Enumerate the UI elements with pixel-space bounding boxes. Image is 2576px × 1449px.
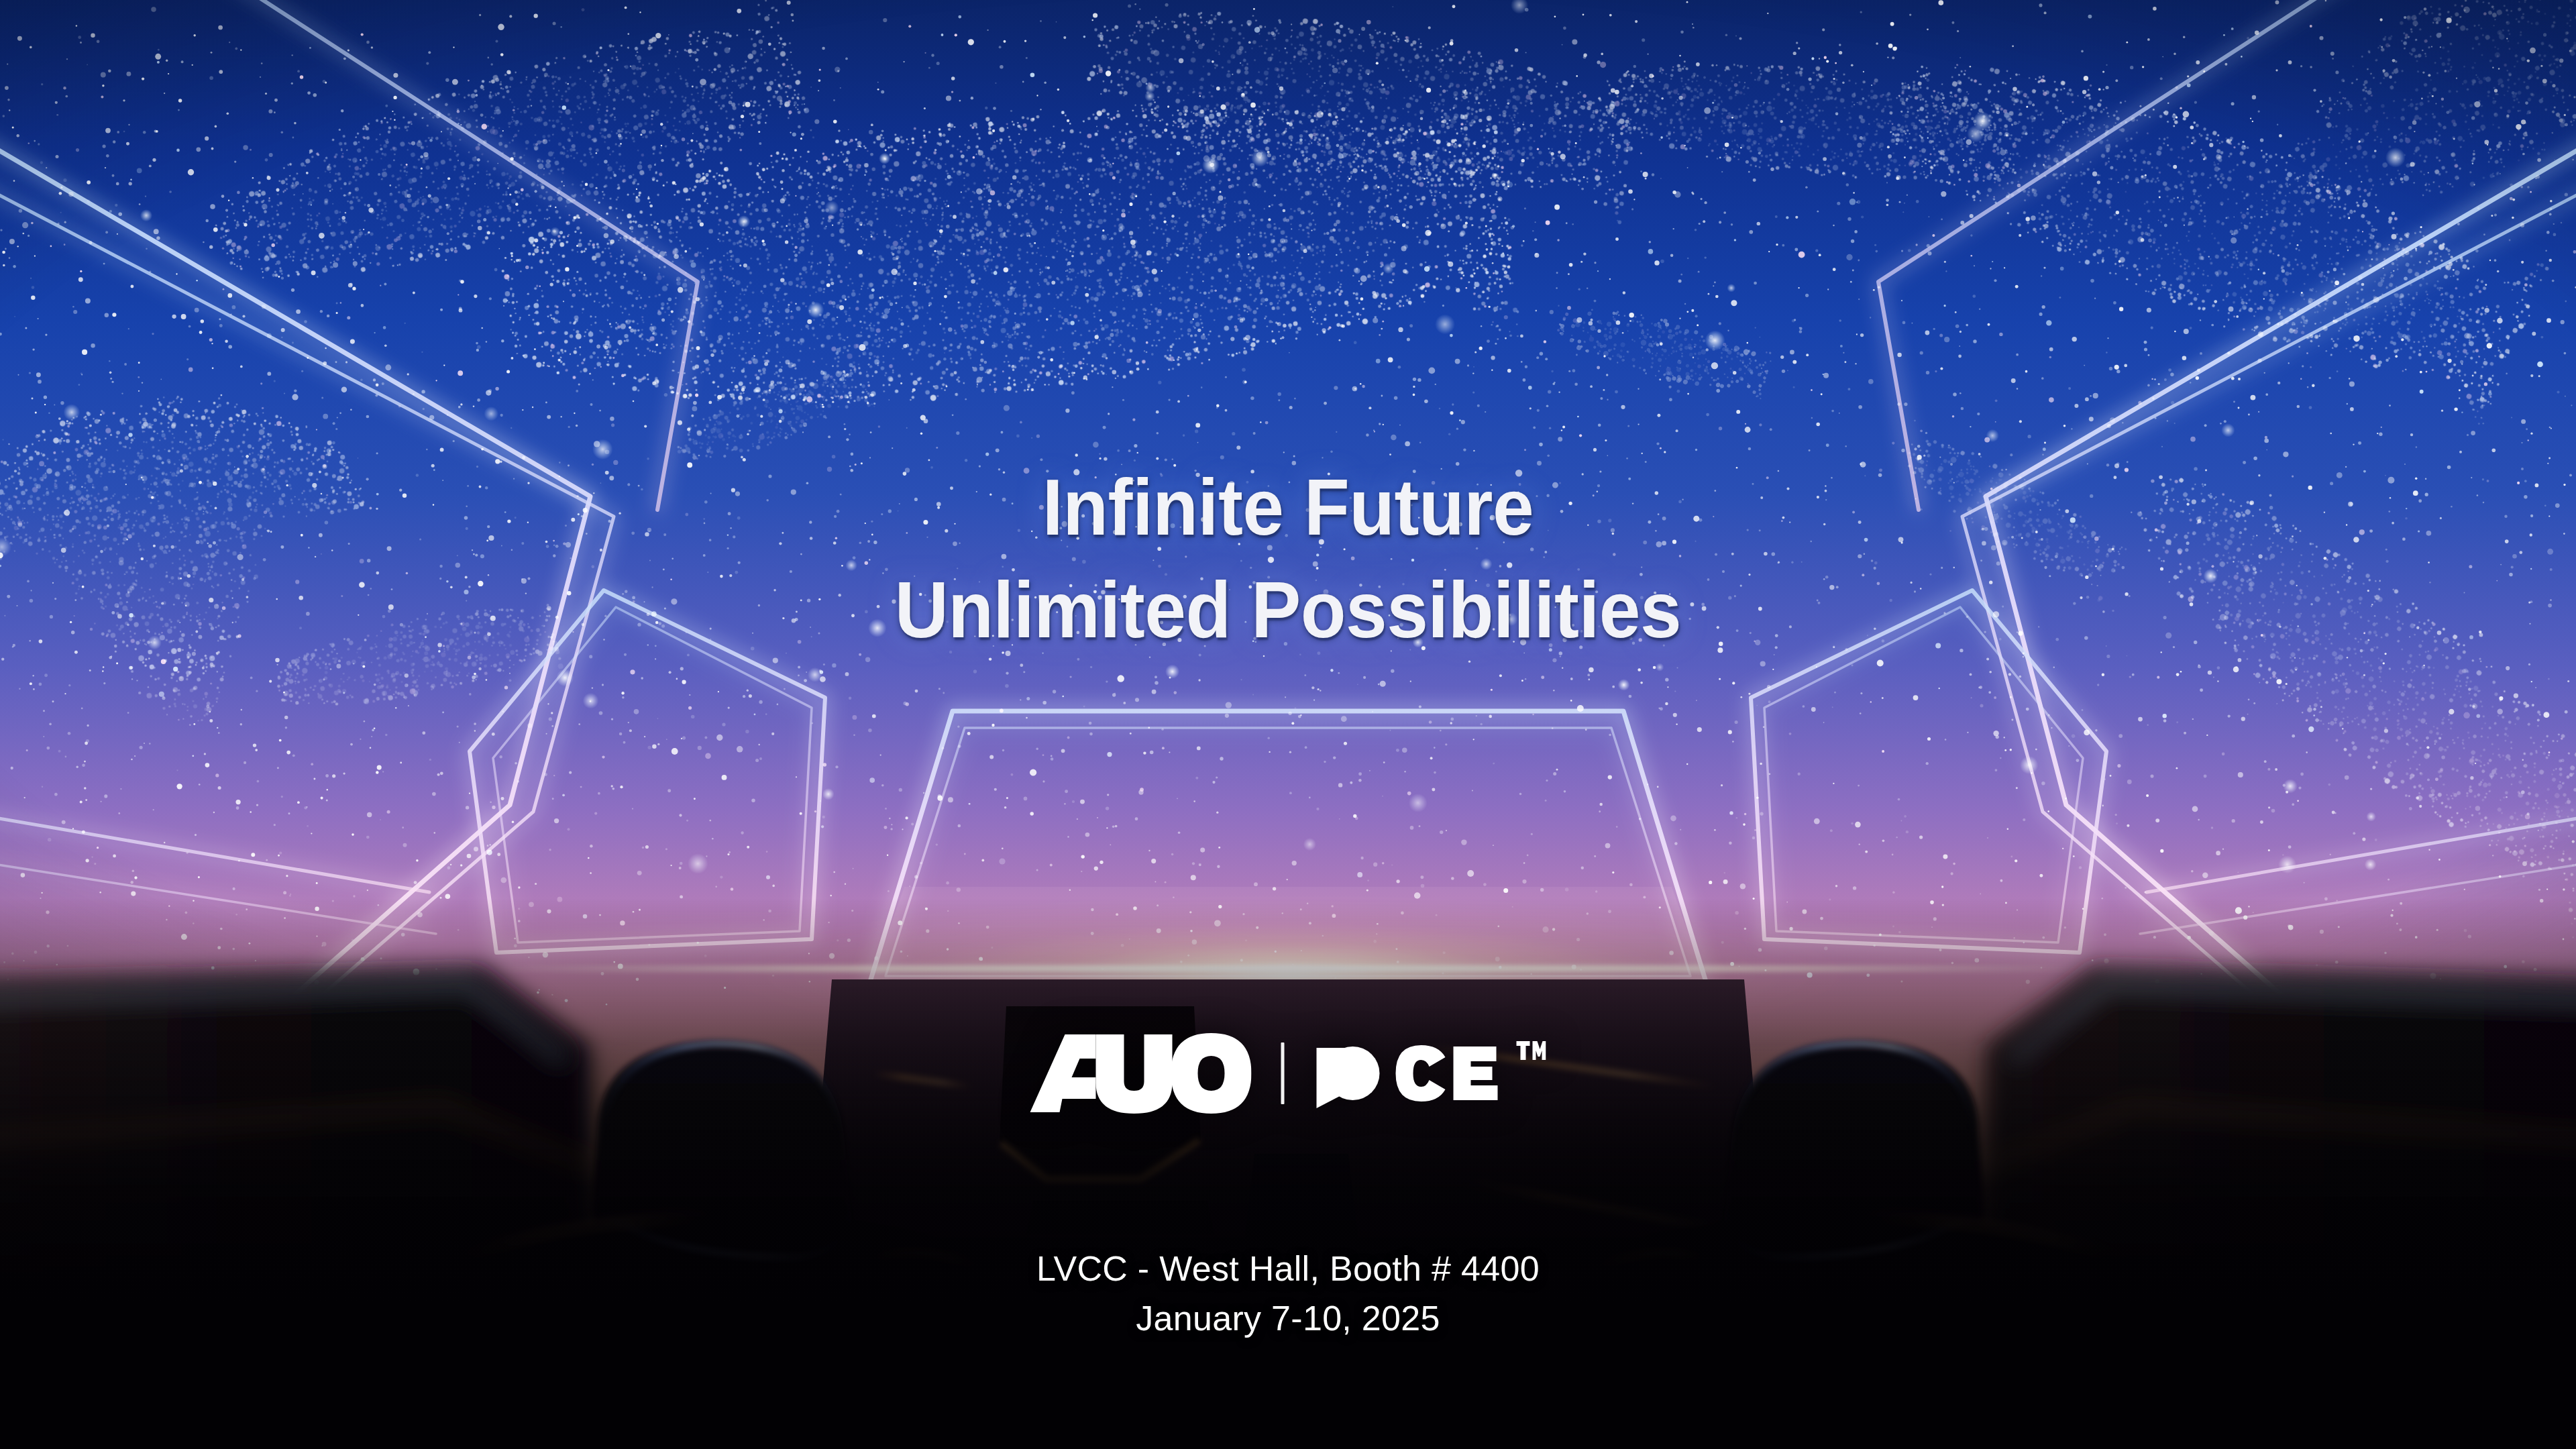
page-title: Infinite Future Unlimited Possibilities <box>77 456 2499 662</box>
event-details: LVCC - West Hall, Booth # 4400 January 7… <box>0 1244 2576 1344</box>
headline-line-2: Unlimited Possibilities <box>77 559 2499 661</box>
date-line: January 7-10, 2025 <box>0 1294 2576 1344</box>
auo-logo[interactable] <box>1030 1033 1252 1114</box>
headline-line-1: Infinite Future <box>77 456 2499 559</box>
key-visual-poster: Infinite Future Unlimited Possibilities <box>0 0 2576 1449</box>
ces-wordmark <box>1314 1033 1515 1114</box>
venue-line: LVCC - West Hall, Booth # 4400 <box>0 1244 2576 1294</box>
ces-logo[interactable] <box>1314 1033 1546 1114</box>
logo-lockup <box>1030 1033 1546 1114</box>
trademark-icon <box>1515 1033 1546 1114</box>
bottom-scrim <box>0 0 2576 1449</box>
logo-divider <box>1281 1042 1285 1104</box>
